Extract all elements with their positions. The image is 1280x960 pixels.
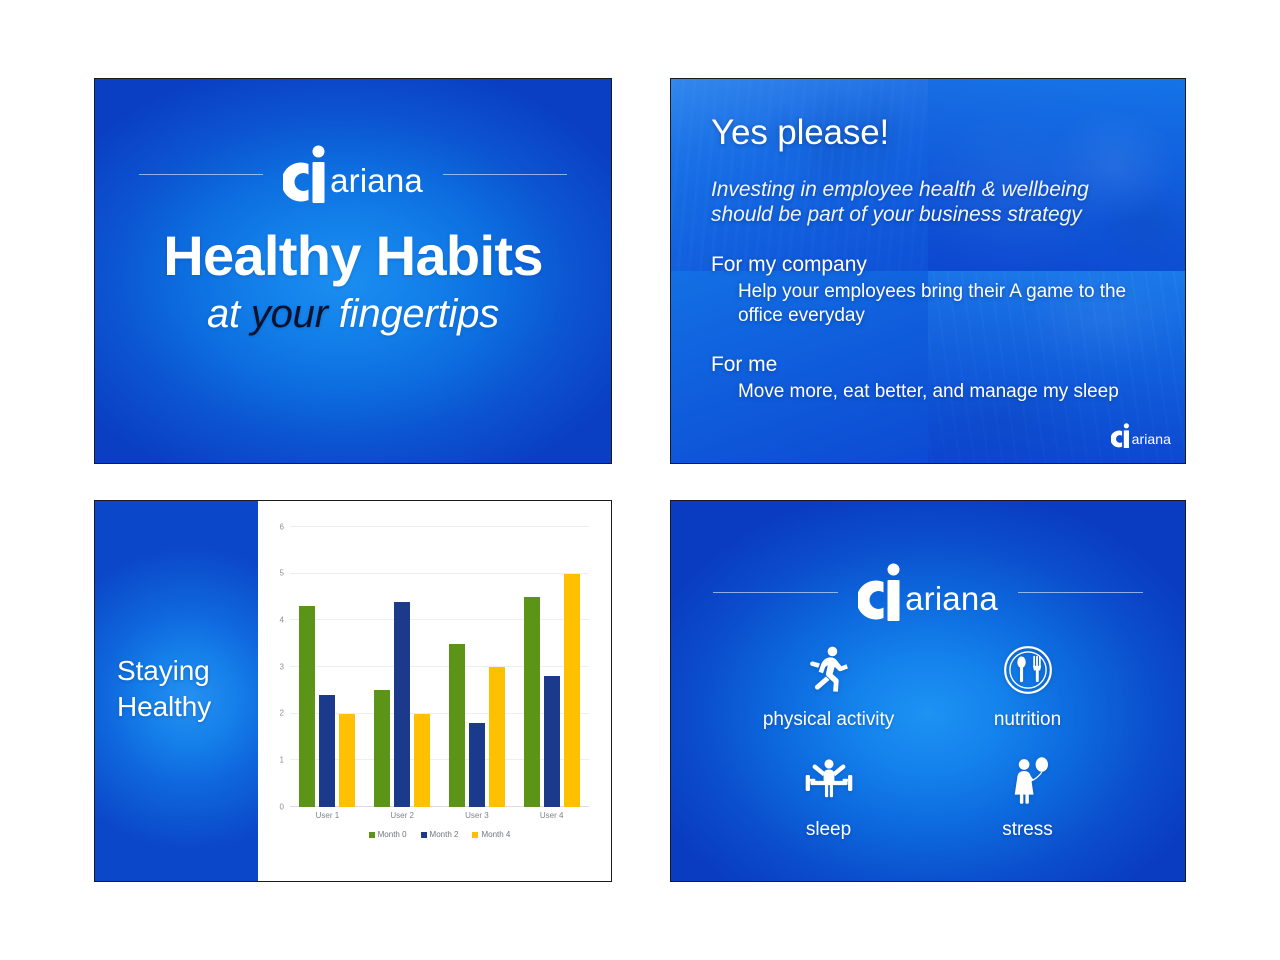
pillar-label: sleep [806, 819, 851, 841]
legend-item[interactable]: Month 0 [369, 830, 407, 839]
running-person-icon [804, 639, 854, 701]
bar-group [514, 527, 589, 807]
legend-label: Month 4 [481, 830, 510, 839]
person-in-bed-icon [802, 749, 856, 811]
bar-group [365, 527, 440, 807]
sidebar-title: Staying Healthy [117, 653, 211, 726]
y-axis-tick-label: 4 [280, 615, 284, 624]
y-axis-tick-label: 6 [280, 522, 284, 531]
y-axis-tick-label: 0 [280, 802, 284, 811]
chart-legend: Month 0Month 2Month 4 [290, 830, 589, 839]
sidebar-panel: Staying Healthy [95, 501, 258, 881]
bar[interactable] [524, 597, 540, 807]
sidebar-title-line-2: Healthy [117, 689, 211, 725]
logo-header-band: ariana [95, 145, 611, 203]
x-axis-tick-label: User 1 [290, 811, 365, 820]
bar-group [290, 527, 365, 807]
bar-group [440, 527, 515, 807]
pillar-nutrition[interactable]: nutrition [928, 639, 1127, 731]
subtitle-emphasis: your [251, 292, 328, 336]
slide-title[interactable]: ariana Healthy Habits at your fingertips [94, 78, 612, 464]
legend-swatch [421, 832, 427, 838]
x-axis-labels: User 1User 2User 3User 4 [290, 811, 589, 820]
ariana-logo: ariana [858, 563, 998, 621]
divider-line-left [713, 592, 838, 593]
title-block: Healthy Habits at your fingertips [95, 227, 611, 337]
y-axis-tick-label: 1 [280, 755, 284, 764]
slide-deck-overview: ariana Healthy Habits at your fingertips [0, 0, 1280, 960]
bar[interactable] [299, 606, 315, 807]
divider-line-right [1018, 592, 1143, 593]
legend-item[interactable]: Month 4 [472, 830, 510, 839]
plate-fork-spoon-icon [1003, 639, 1053, 701]
sidebar-title-line-1: Staying [117, 653, 211, 689]
y-axis-tick-label: 3 [280, 662, 284, 671]
ariana-logo: ariana [283, 145, 423, 203]
divider-line-right [443, 174, 567, 175]
legend-item[interactable]: Month 2 [421, 830, 459, 839]
bar[interactable] [449, 644, 465, 807]
ariana-logo-icon [283, 145, 329, 203]
legend-label: Month 2 [430, 830, 459, 839]
legend-swatch [369, 832, 375, 838]
ariana-logo-text: ariana [905, 582, 998, 621]
pillar-label: nutrition [994, 709, 1061, 731]
content-group-company: For my company Help your employees bring… [711, 253, 1151, 326]
ariana-logo-icon [1111, 423, 1131, 448]
pillar-physical-activity[interactable]: physical activity [729, 639, 928, 731]
slide-title-text: Healthy Habits [95, 227, 611, 284]
slide-four-pillars[interactable]: ariana physical activity [670, 500, 1186, 882]
slide-staying-healthy[interactable]: Staying Healthy 0123456 User 1User 2User… [94, 500, 612, 882]
bar-groups [290, 527, 589, 807]
ariana-logo: ariana [1111, 423, 1171, 448]
ariana-logo-text: ariana [330, 164, 423, 203]
legend-swatch [472, 832, 478, 838]
pillar-label: physical activity [763, 709, 894, 731]
slide-title-text: Yes please! [711, 113, 1151, 153]
pillar-stress[interactable]: stress [928, 749, 1127, 841]
pillar-grid: physical activity nu [729, 639, 1127, 841]
legend-label: Month 0 [378, 830, 407, 839]
slide-content: Yes please! Investing in employee health… [671, 79, 1185, 463]
bar[interactable] [489, 667, 505, 807]
group-heading: For my company [711, 253, 1151, 277]
group-body: Move more, eat better, and manage my sle… [711, 380, 1151, 403]
bar[interactable] [394, 602, 410, 807]
pillar-sleep[interactable]: sleep [729, 749, 928, 841]
bar[interactable] [544, 676, 560, 807]
group-heading: For me [711, 353, 1151, 377]
pillar-label: stress [1002, 819, 1052, 841]
slide-subtitle-text: at your fingertips [95, 292, 611, 337]
y-axis-tick-label: 5 [280, 569, 284, 578]
y-axis-tick-label: 2 [280, 709, 284, 718]
ariana-logo-icon [858, 563, 904, 621]
content-group-me: For me Move more, eat better, and manage… [711, 353, 1151, 403]
bar[interactable] [414, 714, 430, 807]
bar-chart: 0123456 User 1User 2User 3User 4 Month 0… [266, 515, 593, 873]
x-axis-tick-label: User 3 [440, 811, 515, 820]
group-body: Help your employees bring their A game t… [711, 280, 1151, 326]
x-axis-tick-label: User 2 [365, 811, 440, 820]
child-with-balloon-icon [1003, 749, 1053, 811]
chart-panel: 0123456 User 1User 2User 3User 4 Month 0… [258, 501, 611, 881]
bar[interactable] [374, 690, 390, 807]
subtitle-part-2: fingertips [328, 292, 499, 336]
bar[interactable] [469, 723, 485, 807]
divider-line-left [139, 174, 263, 175]
slide-lead-text: Investing in employee health & wellbeing… [711, 177, 1151, 227]
bar[interactable] [564, 574, 580, 807]
footer-logo: ariana [1111, 423, 1171, 453]
subtitle-part-1: at [207, 292, 251, 336]
x-axis-tick-label: User 4 [514, 811, 589, 820]
plot-area: 0123456 [290, 527, 589, 807]
ariana-logo-text: ariana [1132, 432, 1171, 448]
bar[interactable] [339, 714, 355, 807]
bar[interactable] [319, 695, 335, 807]
logo-header-band: ariana [671, 563, 1185, 621]
slide-yes-please[interactable]: Yes please! Investing in employee health… [670, 78, 1186, 464]
